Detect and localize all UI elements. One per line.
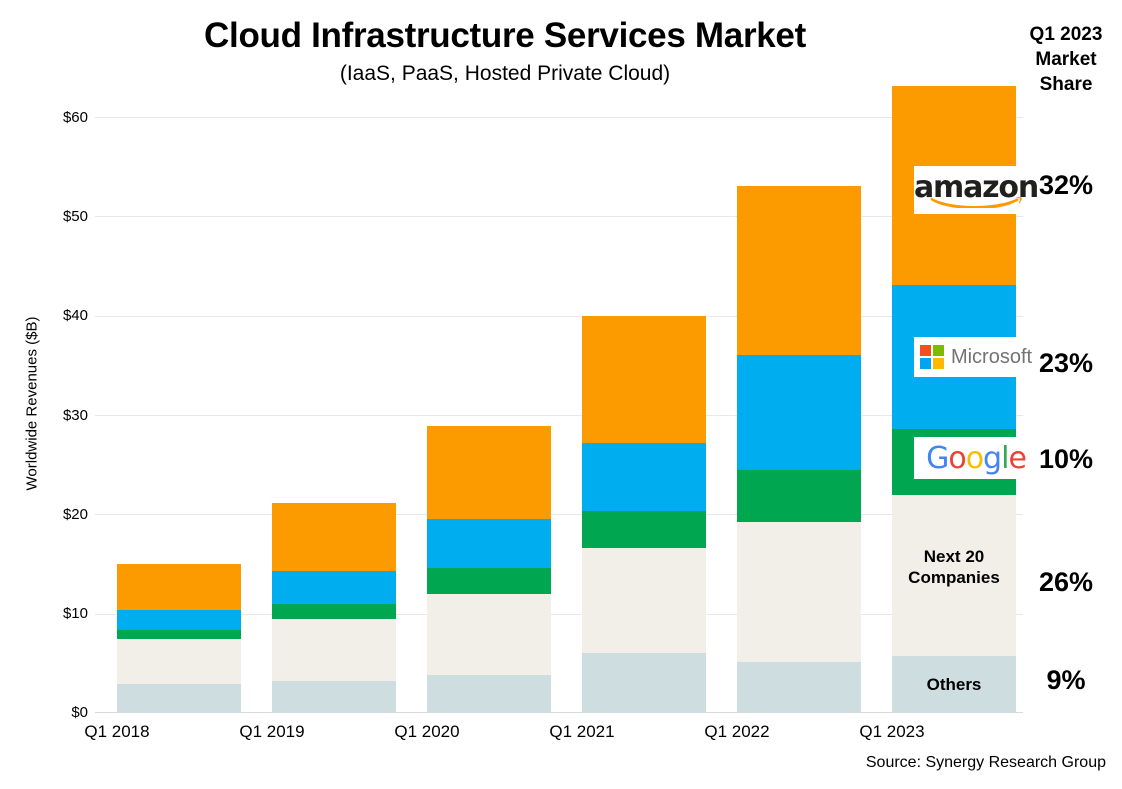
x-tick-q1-2022: Q1 2022 [657,722,817,742]
gridline-20 [95,514,1023,515]
y-tick-0: $0 [18,705,88,720]
y-tick-60: $60 [18,110,88,125]
gridline-40 [95,316,1023,317]
chart-title: Cloud Infrastructure Services Market [0,16,1010,56]
segment-microsoft-2020 [427,519,551,568]
segment-next20-2020 [427,594,551,675]
segment-google-2020 [427,568,551,594]
next-20-companies-label: Next 20 Companies [892,546,1016,588]
segment-others-2018 [117,684,241,713]
bar-q1-2019[interactable] [272,503,396,713]
segment-google-2019 [272,604,396,619]
y-tick-20: $20 [18,507,88,522]
x-tick-q1-2018: Q1 2018 [37,722,197,742]
x-tick-q1-2023: Q1 2023 [812,722,972,742]
bar-q1-2021[interactable] [582,316,706,713]
share-value-amazon: 32% [1010,170,1122,201]
share-value-microsoft: 23% [1010,348,1122,379]
y-tick-30: $30 [18,408,88,423]
share-value-next20: 26% [1010,567,1122,598]
segment-google-2022 [737,470,861,522]
bar-q1-2022[interactable] [737,186,861,713]
y-tick-40: $40 [18,308,88,323]
source-note: Source: Synergy Research Group [866,754,1106,772]
segment-amazon-2021 [582,316,706,443]
segment-others-2020 [427,675,551,713]
segment-microsoft-2019 [272,571,396,604]
gridline-50 [95,216,1023,217]
segment-next20-2019 [272,619,396,681]
chart-container: Cloud Infrastructure Services Market (Ia… [0,0,1122,789]
x-tick-q1-2019: Q1 2019 [192,722,352,742]
share-value-others: 9% [1010,665,1122,696]
gridline-60 [95,117,1023,118]
segment-microsoft-2018 [117,610,241,630]
plot-area [95,117,1023,713]
segment-others-2021 [582,653,706,713]
microsoft-squares-icon [920,345,944,369]
segment-google-2021 [582,511,706,548]
share-value-google: 10% [1010,444,1122,475]
segment-next20-2022 [737,522,861,662]
bar-q1-2020[interactable] [427,426,551,713]
segment-amazon-2020 [427,426,551,519]
segment-next20-2021 [582,548,706,653]
others-label: Others [892,674,1016,695]
segment-microsoft-2022 [737,355,861,470]
bar-q1-2018[interactable] [117,564,241,713]
segment-microsoft-2021 [582,443,706,511]
segment-others-2022 [737,662,861,713]
x-tick-q1-2021: Q1 2021 [502,722,662,742]
segment-others-2019 [272,681,396,713]
y-tick-10: $10 [18,606,88,621]
segment-next20-2018 [117,639,241,684]
gridline-30 [95,415,1023,416]
chart-subtitle: (IaaS, PaaS, Hosted Private Cloud) [0,62,1010,86]
segment-amazon-2018 [117,564,241,610]
segment-amazon-2019 [272,503,396,571]
amazon-smile-icon [930,194,1022,208]
y-tick-50: $50 [18,209,88,224]
x-tick-q1-2020: Q1 2020 [347,722,507,742]
market-share-header: Q1 2023 Market Share [1010,22,1122,97]
segment-amazon-2022 [737,186,861,355]
segment-google-2018 [117,630,241,639]
